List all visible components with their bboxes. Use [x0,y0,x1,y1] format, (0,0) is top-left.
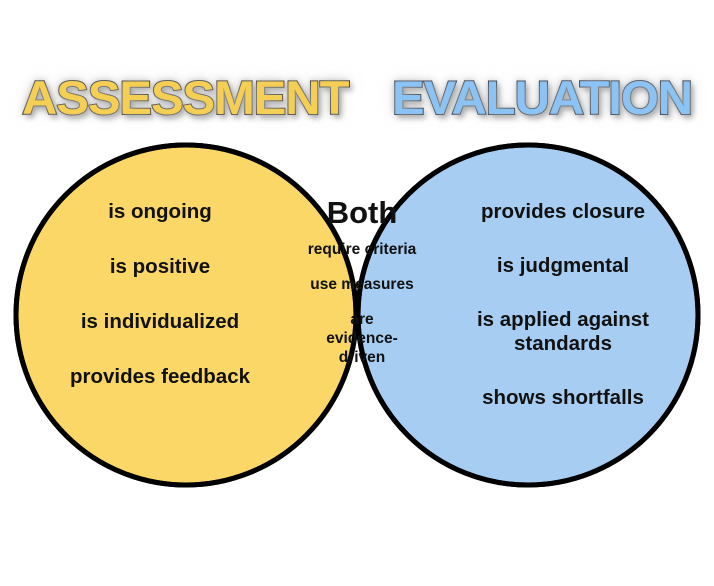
assessment-item-list: is ongoing is positive is individualized… [26,200,294,389]
both-item-line: evidence- [283,329,441,348]
both-heading: Both [283,196,441,230]
evaluation-item: is judgmental [432,254,694,278]
title-assessment: ASSESSMENT [22,72,348,124]
assessment-item: is individualized [26,310,294,334]
assessment-item: is ongoing [26,200,294,224]
title-evaluation: EVALUATION [392,72,692,124]
both-item-line: are [283,310,441,329]
evaluation-item-list: provides closure is judgmental is applie… [432,200,694,410]
both-item: use measures [283,275,441,294]
both-item: are evidence- driven [283,310,441,367]
evaluation-item: provides closure [432,200,694,224]
venn-diagram-canvas: ASSESSMENT EVALUATION is ongoing is posi… [0,0,714,586]
assessment-item: is positive [26,255,294,279]
both-item-line: driven [283,348,441,367]
evaluation-item: shows shortfalls [432,386,694,410]
both-item-list: Both require criteria use measures are e… [283,196,441,367]
both-item: require criteria [283,240,441,259]
assessment-item: provides feedback [26,365,294,389]
evaluation-item: is applied against standards [432,308,694,356]
